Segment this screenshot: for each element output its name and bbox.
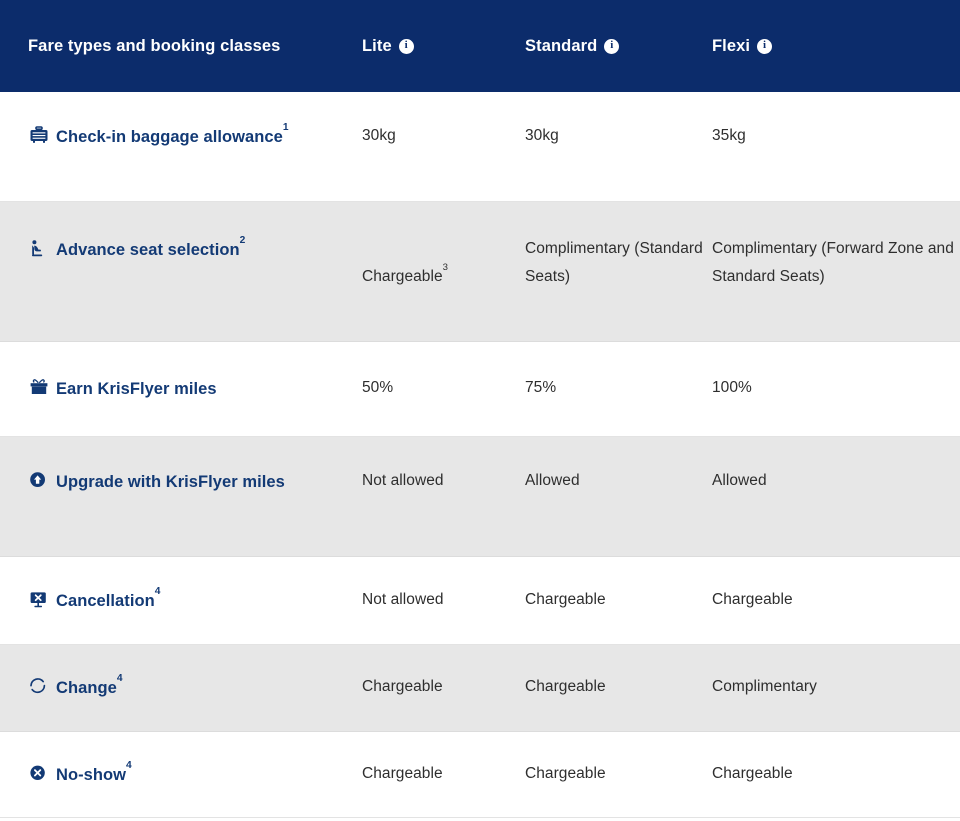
cell-seat-flexi-text: Complimentary (Forward Zone and Standard… bbox=[712, 240, 954, 285]
cell-cancellation-flexi: Chargeable bbox=[712, 557, 960, 614]
cell-no-show-flexi-text: Chargeable bbox=[712, 765, 793, 782]
cell-miles-lite: 50% bbox=[362, 342, 525, 402]
row-feature-baggage: Check-in baggage allowance1 bbox=[0, 92, 362, 153]
cell-upgrade-standard-text: Allowed bbox=[525, 472, 580, 489]
row-feature-upgrade: Upgrade with KrisFlyer miles bbox=[0, 437, 362, 498]
header-cell-flexi: Flexi i bbox=[712, 37, 960, 56]
header-cell-feature: Fare types and booking classes bbox=[0, 37, 362, 56]
cell-baggage-lite-text: 30kg bbox=[362, 127, 396, 144]
cell-change-flexi-text: Complimentary bbox=[712, 678, 817, 695]
row-label-seat-selection: Advance seat selection bbox=[56, 241, 240, 259]
row-label-upgrade: Upgrade with KrisFlyer miles bbox=[56, 473, 285, 491]
cell-baggage-lite: 30kg bbox=[362, 92, 525, 150]
cell-baggage-flexi-text: 35kg bbox=[712, 127, 746, 144]
info-icon-standard-glyph: i bbox=[610, 40, 613, 51]
cell-cancellation-standard-text: Chargeable bbox=[525, 591, 606, 608]
cell-miles-lite-text: 50% bbox=[362, 379, 393, 396]
row-feature-seat-selection: Advance seat selection2 bbox=[0, 202, 362, 266]
cell-change-flexi: Complimentary bbox=[712, 645, 960, 701]
row-label-no-show-sup: 4 bbox=[126, 760, 132, 771]
change-refresh-icon bbox=[28, 676, 50, 696]
cell-miles-standard: 75% bbox=[525, 342, 712, 402]
cancellation-sign-icon bbox=[28, 589, 50, 609]
cell-miles-flexi: 100% bbox=[712, 342, 960, 402]
cell-change-lite-text: Chargeable bbox=[362, 678, 443, 695]
cell-upgrade-lite-text: Not allowed bbox=[362, 472, 444, 489]
cell-seat-lite-sup: 3 bbox=[443, 262, 448, 273]
cell-baggage-standard-text: 30kg bbox=[525, 127, 559, 144]
row-feature-change: Change4 bbox=[0, 645, 362, 704]
row-feature-no-show: No-show4 bbox=[0, 732, 362, 791]
info-icon-lite-glyph: i bbox=[405, 40, 408, 51]
header-flexi-label: Flexi bbox=[712, 37, 750, 56]
suitcase-icon bbox=[28, 125, 50, 145]
row-feature-cancellation: Cancellation4 bbox=[0, 557, 362, 617]
row-label-cancellation: Cancellation bbox=[56, 592, 155, 610]
cell-no-show-standard-text: Chargeable bbox=[525, 765, 606, 782]
cell-baggage-standard: 30kg bbox=[525, 92, 712, 150]
row-label-change: Change bbox=[56, 679, 117, 697]
cell-miles-standard-text: 75% bbox=[525, 379, 556, 396]
cell-miles-flexi-text: 100% bbox=[712, 379, 752, 396]
table-row: No-show4 Chargeable Chargeable Chargeabl… bbox=[0, 732, 960, 818]
no-show-circle-x-icon bbox=[28, 763, 50, 783]
row-feature-earn-miles: Earn KrisFlyer miles bbox=[0, 342, 362, 405]
info-icon-flexi[interactable]: i bbox=[757, 39, 772, 54]
info-icon-standard[interactable]: i bbox=[604, 39, 619, 54]
table-header-row: Fare types and booking classes Lite i St… bbox=[0, 0, 960, 92]
cell-cancellation-lite-text: Not allowed bbox=[362, 591, 444, 608]
upgrade-arrow-icon bbox=[28, 470, 50, 490]
fare-comparison-table: Fare types and booking classes Lite i St… bbox=[0, 0, 960, 821]
row-label-cancellation-sup: 4 bbox=[155, 586, 161, 597]
cell-no-show-flexi: Chargeable bbox=[712, 732, 960, 788]
row-label-change-sup: 4 bbox=[117, 673, 123, 684]
gift-icon bbox=[28, 377, 50, 397]
row-label-seat-selection-sup: 2 bbox=[240, 235, 246, 246]
cell-cancellation-lite: Not allowed bbox=[362, 557, 525, 614]
table-row: Earn KrisFlyer miles 50% 75% 100% bbox=[0, 342, 960, 437]
cell-upgrade-lite: Not allowed bbox=[362, 437, 525, 495]
cell-change-standard-text: Chargeable bbox=[525, 678, 606, 695]
info-icon-lite[interactable]: i bbox=[399, 39, 414, 54]
row-label-baggage-sup: 1 bbox=[283, 122, 289, 133]
table-row: Upgrade with KrisFlyer miles Not allowed… bbox=[0, 437, 960, 557]
cell-seat-lite: Chargeable3 bbox=[362, 202, 525, 291]
cell-seat-flexi: Complimentary (Forward Zone and Standard… bbox=[712, 202, 960, 291]
cell-change-lite: Chargeable bbox=[362, 645, 525, 701]
cell-seat-standard: Complimentary (Standard Seats) bbox=[525, 202, 712, 291]
row-label-earn-miles: Earn KrisFlyer miles bbox=[56, 380, 217, 398]
header-feature-label: Fare types and booking classes bbox=[28, 37, 280, 56]
cell-upgrade-flexi-text: Allowed bbox=[712, 472, 767, 489]
cell-no-show-lite-text: Chargeable bbox=[362, 765, 443, 782]
cell-baggage-flexi: 35kg bbox=[712, 92, 960, 150]
table-row: Cancellation4 Not allowed Chargeable Cha… bbox=[0, 557, 960, 645]
cell-cancellation-flexi-text: Chargeable bbox=[712, 591, 793, 608]
cell-upgrade-flexi: Allowed bbox=[712, 437, 960, 495]
cell-no-show-standard: Chargeable bbox=[525, 732, 712, 788]
header-standard-label: Standard bbox=[525, 37, 597, 56]
row-label-baggage: Check-in baggage allowance bbox=[56, 128, 283, 146]
header-cell-standard: Standard i bbox=[525, 37, 712, 56]
cell-seat-standard-text: Complimentary (Standard Seats) bbox=[525, 240, 703, 285]
table-row: Advance seat selection2 Chargeable3 Comp… bbox=[0, 202, 960, 342]
row-label-no-show: No-show bbox=[56, 766, 126, 784]
cell-change-standard: Chargeable bbox=[525, 645, 712, 701]
cell-no-show-lite: Chargeable bbox=[362, 732, 525, 788]
cell-upgrade-standard: Allowed bbox=[525, 437, 712, 495]
cell-seat-lite-text: Chargeable bbox=[362, 268, 443, 285]
header-lite-label: Lite bbox=[362, 37, 392, 56]
table-row: Check-in baggage allowance1 30kg 30kg 35… bbox=[0, 92, 960, 202]
info-icon-flexi-glyph: i bbox=[763, 40, 766, 51]
seat-icon bbox=[28, 238, 50, 258]
cell-cancellation-standard: Chargeable bbox=[525, 557, 712, 614]
header-cell-lite: Lite i bbox=[362, 37, 525, 56]
table-row: Change4 Chargeable Chargeable Compliment… bbox=[0, 645, 960, 732]
